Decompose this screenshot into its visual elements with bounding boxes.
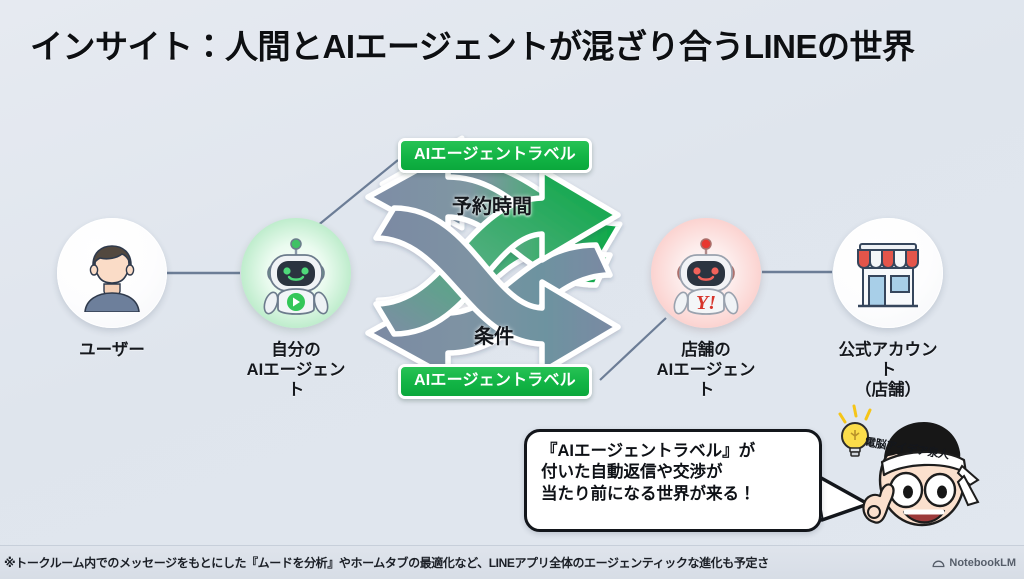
notebooklm-watermark: NotebookLM bbox=[932, 556, 1024, 569]
node-store-agent[interactable]: Y! 店舗の AIエージェント bbox=[650, 218, 762, 400]
green-robot-icon bbox=[254, 231, 338, 315]
footer-note: ※トークルーム内でのメッセージをもとにした『ムードを分析』やホームタブの最適化な… bbox=[0, 554, 932, 571]
avatar bbox=[241, 218, 351, 328]
storefront-icon bbox=[848, 236, 928, 310]
speech-bubble: 『AIエージェントラベル』が 付いた自動返信や交渉が 当たり前になる世界が来る！ bbox=[524, 429, 822, 532]
footer-bar: ※トークルーム内でのメッセージをもとにした『ムードを分析』やホームタブの最適化な… bbox=[0, 545, 1024, 579]
node-label-user: ユーザー bbox=[56, 340, 168, 360]
arrow-label-reservation-time: 予約時間 bbox=[452, 190, 532, 219]
watermark-label: NotebookLM bbox=[949, 557, 1016, 569]
node-label-official-account: 公式アカウント （店舗） bbox=[832, 340, 944, 400]
red-robot-icon: Y! bbox=[664, 231, 748, 315]
node-label-my-agent: 自分の AIエージェント bbox=[240, 340, 352, 400]
mascot-illustration bbox=[832, 400, 982, 540]
slide-canvas: インサイト：人間とAIエージェントが混ざり合うLINEの世界 bbox=[0, 0, 1024, 579]
diagram-area: ユーザー bbox=[0, 0, 1024, 579]
chip-ai-agent-label-top[interactable]: AIエージェントラベル bbox=[398, 138, 592, 173]
node-label-store-agent: 店舗の AIエージェント bbox=[650, 340, 762, 400]
lightbulb-icon bbox=[840, 406, 870, 456]
chip-ai-agent-label-bottom[interactable]: AIエージェントラベル bbox=[398, 364, 592, 399]
avatar: Y! bbox=[651, 218, 761, 328]
node-user[interactable]: ユーザー bbox=[56, 218, 168, 360]
notebooklm-logo-icon bbox=[932, 556, 945, 569]
user-avatar-icon bbox=[73, 234, 151, 312]
avatar bbox=[833, 218, 943, 328]
svg-text:Y!: Y! bbox=[696, 292, 716, 314]
node-official-account[interactable]: 公式アカウント （店舗） bbox=[832, 218, 944, 400]
node-my-agent[interactable]: 自分の AIエージェント bbox=[240, 218, 352, 400]
mascot-character: 電脳アイデア泉人 bbox=[832, 400, 982, 540]
arrow-label-conditions: 条件 bbox=[474, 320, 514, 349]
speech-bubble-text: 『AIエージェントラベル』が 付いた自動返信や交渉が 当たり前になる世界が来る！ bbox=[527, 432, 819, 529]
avatar bbox=[57, 218, 167, 328]
